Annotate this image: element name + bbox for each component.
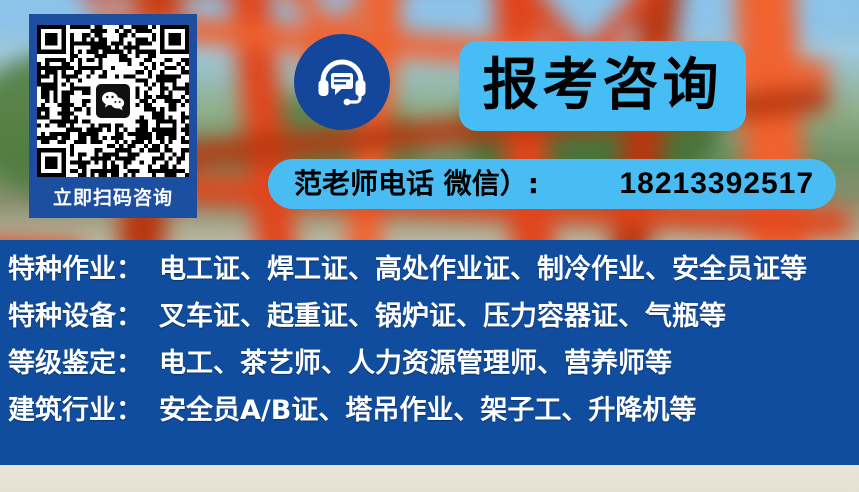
headset-support-icon	[294, 34, 390, 130]
promo-poster: 立即扫码咨询 报考咨询 范老师电话 微信）: 18213392517 特种作业：…	[0, 0, 859, 492]
category-items: 电工、茶艺师、人力资源管理师、营养师等	[159, 350, 672, 377]
category-name: 等级鉴定：	[8, 350, 143, 377]
category-row: 建筑行业： 安全员A/B证、塔吊作业、架子工、升降机等	[8, 397, 851, 444]
contact-number[interactable]: 18213392517	[619, 169, 814, 199]
qr-code-image[interactable]	[37, 25, 189, 177]
category-row: 特种作业： 电工证、焊工证、高处作业证、制冷作业、安全员证等	[8, 256, 851, 303]
category-items: 电工证、焊工证、高处作业证、制冷作业、安全员证等	[159, 256, 807, 283]
consultation-badge-label: 报考咨询	[483, 58, 723, 114]
category-row: 等级鉴定： 电工、茶艺师、人力资源管理师、营养师等	[8, 350, 851, 397]
qr-caption: 立即扫码咨询	[53, 189, 173, 208]
contact-label: 范老师电话 微信）:	[294, 170, 539, 198]
contact-phone-pill[interactable]: 范老师电话 微信）: 18213392517	[268, 159, 836, 209]
qr-code-panel[interactable]: 立即扫码咨询	[29, 14, 197, 218]
category-items: 叉车证、起重证、锅炉证、压力容器证、气瓶等	[159, 303, 726, 330]
bottom-photo-strip	[0, 465, 859, 492]
consultation-badge[interactable]: 报考咨询	[459, 41, 746, 131]
category-name: 特种作业：	[8, 256, 143, 283]
category-name: 特种设备：	[8, 303, 143, 330]
category-items: 安全员A/B证、塔吊作业、架子工、升降机等	[159, 397, 696, 424]
bottom-photo-blur	[0, 465, 859, 492]
category-name: 建筑行业：	[8, 397, 143, 424]
category-row: 特种设备： 叉车证、起重证、锅炉证、压力容器证、气瓶等	[8, 303, 851, 350]
certificate-category-panel: 特种作业： 电工证、焊工证、高处作业证、制冷作业、安全员证等 特种设备： 叉车证…	[0, 240, 859, 465]
wechat-logo-icon	[96, 84, 130, 118]
